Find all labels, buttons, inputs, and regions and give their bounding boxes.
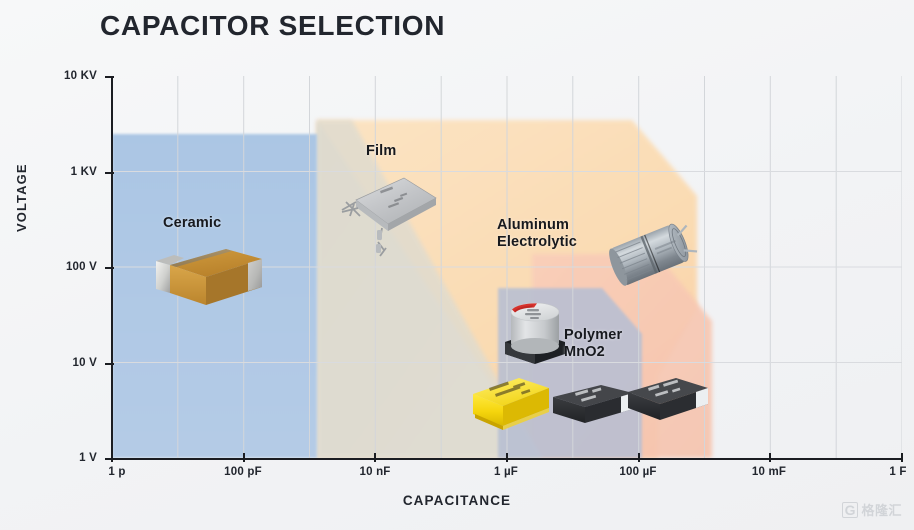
y-tick-mark-100v [105,267,114,269]
y-tick-label-100v: 100 V [49,261,97,273]
x-tick-label-100uf: 100 µF [619,466,656,478]
x-tick-mark-10mf [769,453,771,462]
x-tick-label-1uf: 1 µF [494,466,518,478]
film-capacitor-image [336,168,444,260]
x-axis-title: CAPACITANCE [0,493,914,508]
x-tick-mark-100pf [243,453,245,462]
region-label-aluminum-electrolytic: Aluminum Electrolytic [497,217,577,251]
watermark: G 格隆汇 [842,500,902,519]
y-tick-label-1v: 1 V [49,452,97,464]
capacitor-selection-chart: CAPACITOR SELECTION [0,0,914,530]
x-tick-label-10mf: 10 mF [752,466,786,478]
ceramic-capacitor-image [152,243,270,315]
x-tick-label-100pf: 100 pF [224,466,262,478]
region-label-film: Film [366,143,396,160]
x-tick-mark-1f [901,453,903,462]
x-tick-mark-1uf [506,453,508,462]
page-title: CAPACITOR SELECTION [100,10,445,42]
y-tick-mark-10kv [105,76,114,78]
x-tick-mark-100uf [638,453,640,462]
y-tick-mark-1kv [105,172,114,174]
watermark-logo-icon: G [842,502,859,518]
watermark-text: 格隆汇 [861,500,902,519]
y-tick-mark-10v [105,363,114,365]
x-tick-label-1p: 1 p [108,466,125,478]
plot-area: Ceramic Film Aluminum Electrolytic Polym… [112,76,902,458]
region-label-polymer-mno2: Polymer MnO2 [564,327,622,361]
polymer-capacitor-image [497,296,573,368]
y-tick-label-10kv: 10 KV [49,70,97,82]
x-tick-label-1f: 1 F [889,466,906,478]
x-tick-label-10nf: 10 nF [359,466,390,478]
y-tick-label-1kv: 1 KV [49,166,97,178]
aluminum-electrolytic-capacitor-image [606,216,702,298]
y-tick-label-10v: 10 V [49,357,97,369]
region-label-ceramic: Ceramic [163,215,221,232]
tantalum-capacitor-black-2-image [622,374,714,432]
x-tick-mark-10nf [374,453,376,462]
y-axis-title: VOLTAGE [14,163,29,232]
tantalum-capacitor-yellow-image [463,374,557,436]
x-tick-mark-1p [111,453,113,462]
